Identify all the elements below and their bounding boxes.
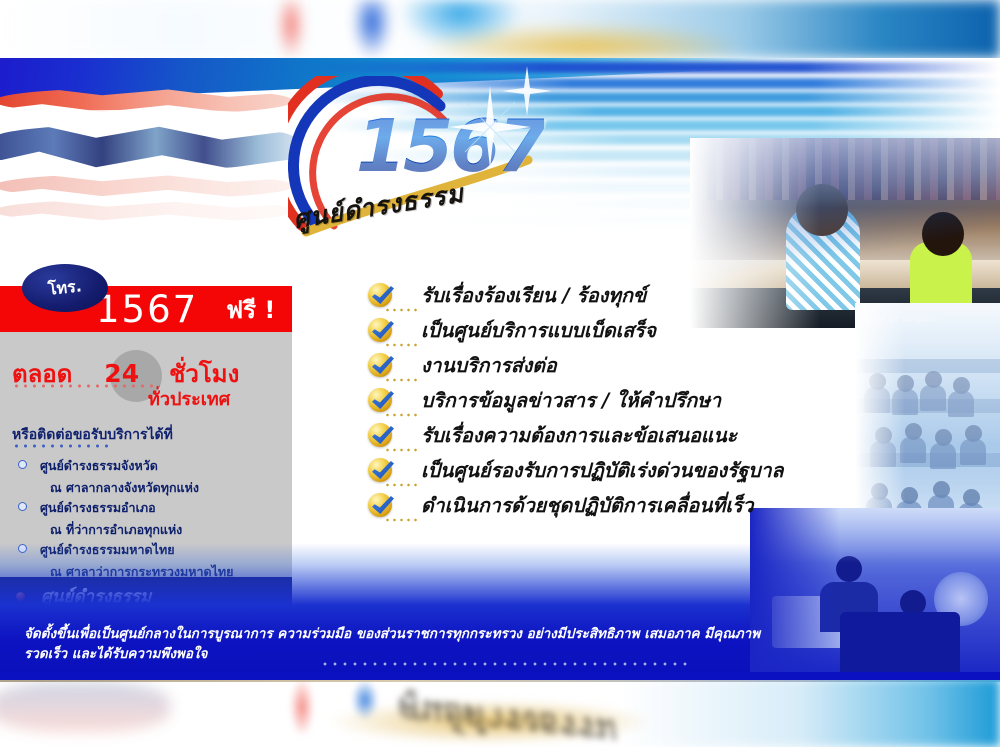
tel-label: โทร.: [47, 274, 83, 302]
contact-item-line1: ศูนย์ดำรงธรรมอำเภอ: [40, 498, 182, 518]
service-item: เป็นศูนย์รองรับการปฏิบัติเร่งด่วนของรัฐบ…: [368, 455, 898, 490]
hotline-free-label: ฟรี !: [226, 290, 275, 329]
bottom-reflection: ศูนย์ดำรงธรรม: [0, 678, 1000, 747]
service-item-label: รับเรื่องความต้องการและข้อเสนอแนะ: [421, 420, 737, 451]
check-dotted-trail: [384, 308, 420, 312]
service-item: รับเรื่องร้องเรียน / ร้องทุกข์: [368, 280, 898, 315]
service-item-label: บริการข้อมูลข่าวสาร / ให้คำปรึกษา: [421, 385, 721, 416]
coverage-label: ทั่วประเทศ: [148, 384, 230, 413]
bottom-edge-strip: [0, 672, 1000, 680]
contact-gray-panel: ตลอด 24 ชั่วโมง ทั่วประเทศ หรือติดต่อขอร…: [0, 332, 292, 578]
check-dotted-trail: [384, 378, 420, 382]
glow-blue: [352, 0, 392, 58]
glow-red: [278, 0, 304, 58]
check-circle-icon: [368, 283, 392, 307]
service-item: เป็นศูนย์บริการแบบเบ็ดเสร็จ: [368, 315, 898, 350]
service-item-label: งานบริการส่งต่อ: [421, 350, 557, 381]
check-circle-icon: [368, 458, 392, 482]
mission-text: จัดตั้งขึ้นเพื่อเป็นศูนย์กลางในการบูรณาก…: [24, 624, 904, 664]
contact-bullet-icon: [18, 502, 27, 511]
footer-dotted-rule: [320, 662, 690, 666]
check-circle-icon: [368, 388, 392, 412]
service-item: งานบริการส่งต่อ: [368, 350, 898, 385]
check-dotted-trail: [384, 518, 420, 522]
sparkle-star-small-icon: [500, 64, 554, 118]
check-circle-icon: [368, 423, 392, 447]
contact-list-item: ศูนย์ดำรงธรรมอำเภอณ ที่ว่าการอำเภอทุกแห่…: [18, 498, 182, 540]
top-reflection-glow: [0, 0, 1000, 58]
check-dotted-trail: [384, 448, 420, 452]
tel-badge: โทร.: [22, 264, 108, 312]
check-dotted-trail: [384, 413, 420, 417]
contact-item-line2: ณ ที่ว่าการอำเภอทุกแห่ง: [50, 520, 182, 540]
service-item: บริการข้อมูลข่าวสาร / ให้คำปรึกษา: [368, 385, 898, 420]
hours-dotted-underline: [12, 384, 160, 388]
service-item: ดำเนินการด้วยชุดปฏิบัติการเคลื่อนที่เร็ว: [368, 490, 898, 525]
contact-item-line1: ศูนย์ดำรงธรรมจังหวัด: [40, 456, 199, 476]
contact-dotted-underline: [12, 444, 108, 448]
contact-bullet-icon: [18, 460, 27, 469]
contact-list-item: ศูนย์ดำรงธรรมจังหวัดณ ศาลากลางจังหวัดทุก…: [18, 456, 199, 498]
service-item-label: รับเรื่องร้องเรียน / ร้องทุกข์: [421, 280, 646, 311]
thai-flag-icon: [0, 70, 294, 252]
service-item-label: ดำเนินการด้วยชุดปฏิบัติการเคลื่อนที่เร็ว: [421, 490, 754, 521]
service-item: รับเรื่องความต้องการและข้อเสนอแนะ: [368, 420, 898, 455]
check-dotted-trail: [384, 343, 420, 347]
mission-line-1: จัดตั้งขึ้นเพื่อเป็นศูนย์กลางในการบูรณาก…: [24, 624, 904, 644]
check-dotted-trail: [384, 483, 420, 487]
mission-line-2: รวดเร็ว และได้รับความพึงพอใจ: [24, 644, 904, 664]
check-circle-icon: [368, 318, 392, 342]
poster-card: Center Of Singburi 1567 ศูนย์ดำรงธรรม: [0, 58, 1000, 678]
contact-item-line2: ณ ศาลากลางจังหวัดทุกแห่ง: [50, 478, 199, 498]
contact-heading: หรือติดต่อขอรับบริการได้ที่: [12, 424, 173, 446]
check-circle-icon: [368, 353, 392, 377]
service-checklist: รับเรื่องร้องเรียน / ร้องทุกข์เป็นศูนย์บ…: [368, 280, 898, 525]
service-item-label: เป็นศูนย์รองรับการปฏิบัติเร่งด่วนของรัฐบ…: [421, 455, 783, 486]
check-circle-icon: [368, 493, 392, 517]
service-item-label: เป็นศูนย์บริการแบบเบ็ดเสร็จ: [421, 315, 656, 346]
hotline-number: 1567: [96, 291, 198, 328]
poster-root: Center Of Singburi 1567 ศูนย์ดำรงธรรม: [0, 0, 1000, 747]
